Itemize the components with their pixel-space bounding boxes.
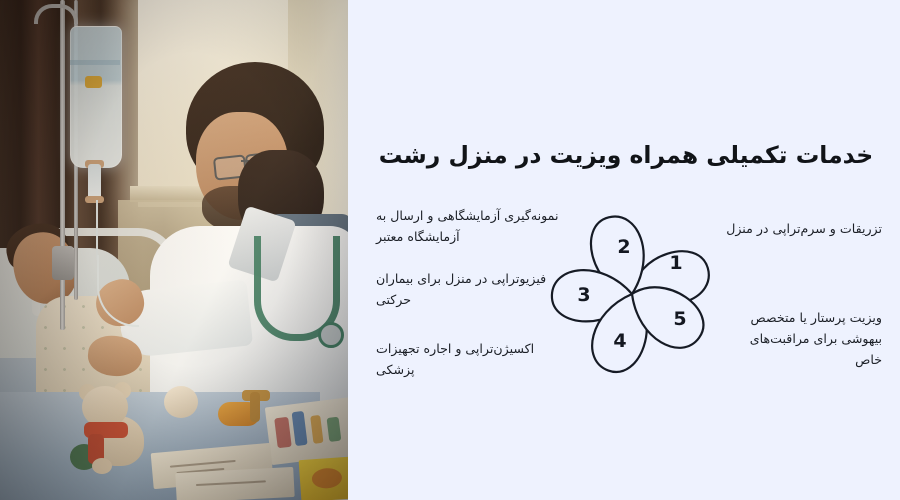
petal-number-4: 4 bbox=[610, 330, 630, 352]
petal-number-5: 5 bbox=[670, 308, 690, 330]
service-label-3: فیزیوتراپی در منزل برای بیماران حرکتی bbox=[376, 269, 568, 311]
page-title: خدمات تکمیلی همراه ویزیت در منزل رشت bbox=[376, 140, 876, 172]
service-label-4: اکسیژن‌تراپی و اجاره تجهیزات پزشکی bbox=[376, 339, 568, 381]
service-label-1: تزریقات و سرم‌تراپی در منزل bbox=[722, 219, 882, 240]
hero-photo bbox=[0, 0, 348, 500]
petal-diagram: 1 2 3 4 5 bbox=[560, 198, 736, 384]
content-panel: خدمات تکمیلی همراه ویزیت در منزل رشت 1 2… bbox=[348, 0, 900, 500]
petal-number-2: 2 bbox=[614, 236, 634, 258]
service-label-5: ویزیت پرستار یا متخصص بیهوشی برای مراقبت… bbox=[722, 308, 882, 370]
photo-vignette bbox=[0, 0, 348, 500]
petal-number-1: 1 bbox=[666, 252, 686, 274]
service-label-2: نمونه‌گیری آزمایشگاهی و ارسال به آزمایشگ… bbox=[376, 206, 568, 248]
slide-canvas: خدمات تکمیلی همراه ویزیت در منزل رشت 1 2… bbox=[0, 0, 900, 500]
petal-number-3: 3 bbox=[574, 284, 594, 306]
